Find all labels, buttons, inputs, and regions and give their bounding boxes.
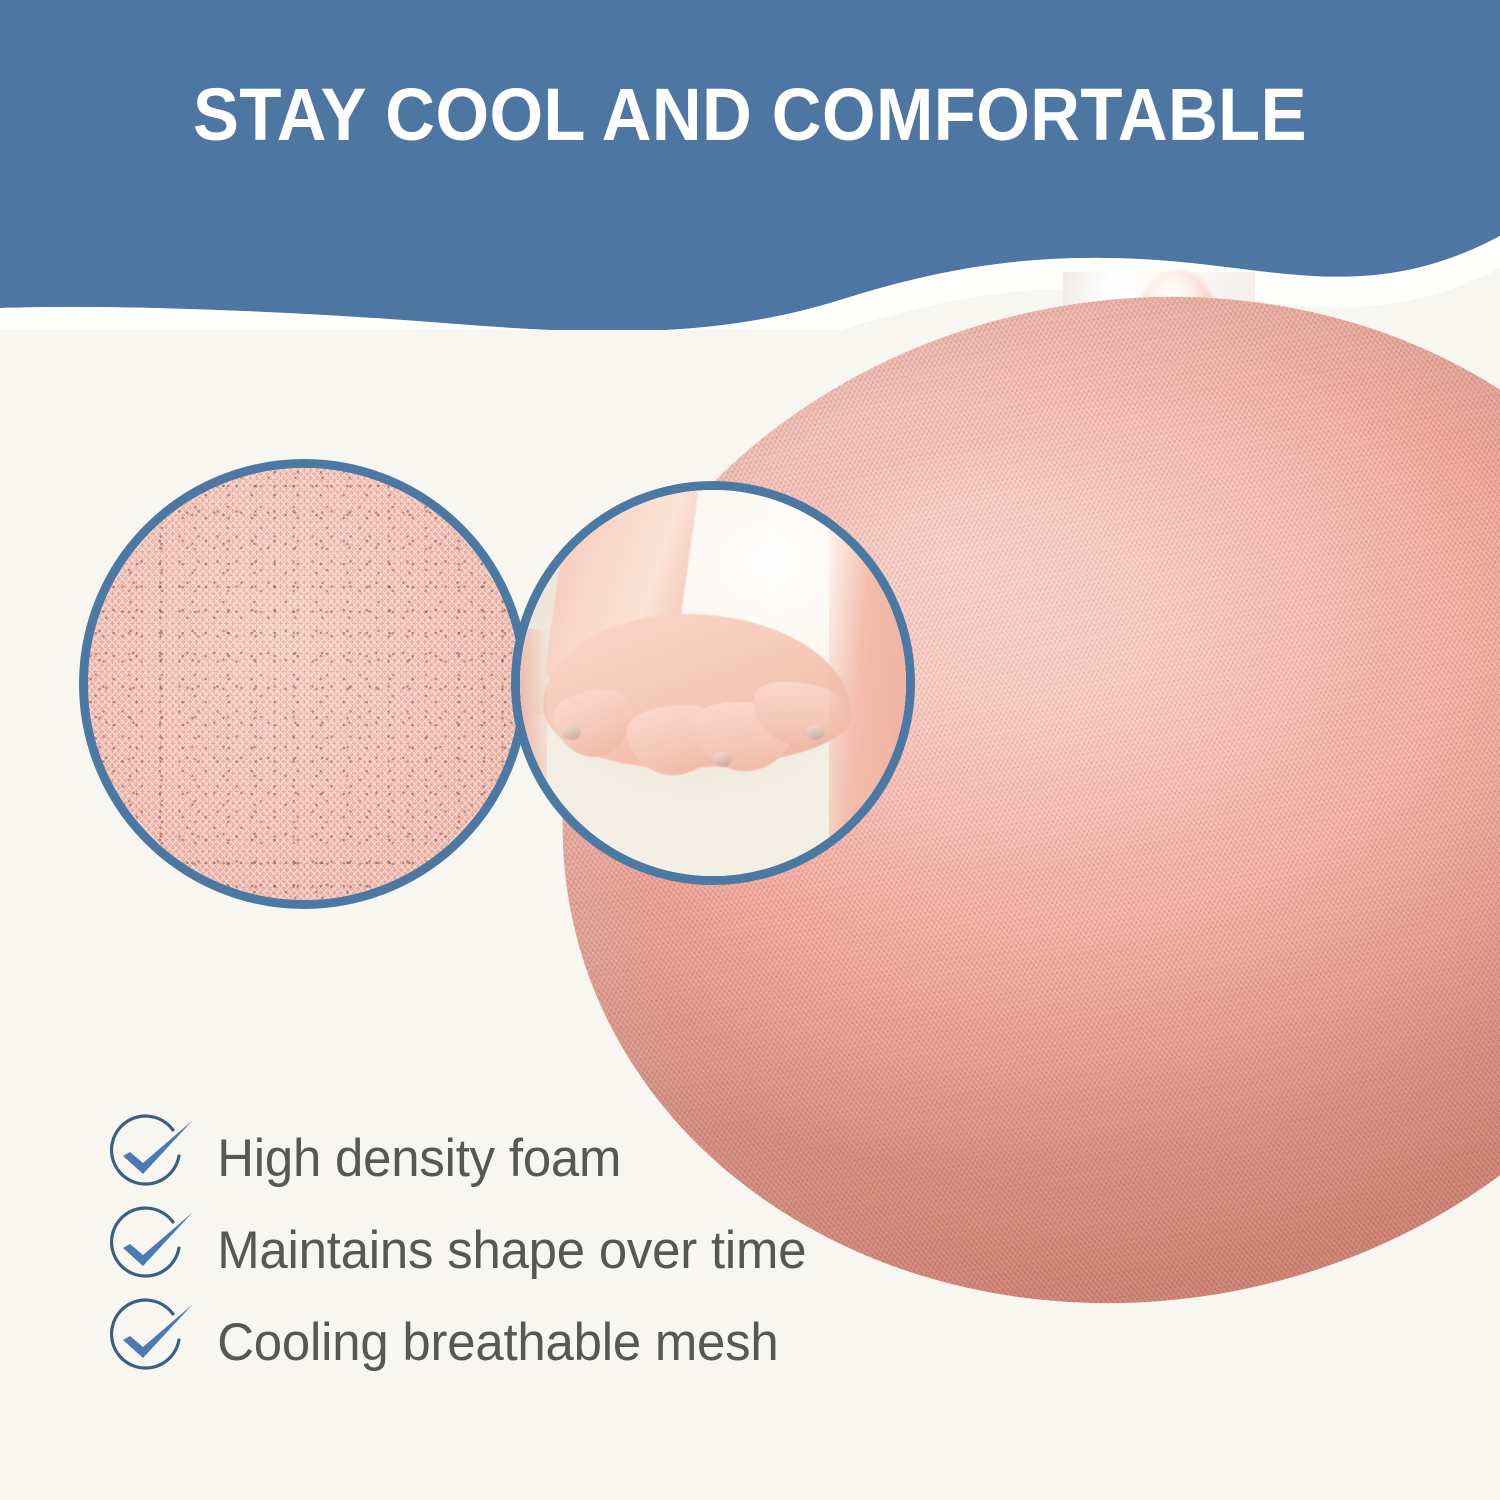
- check-circle-icon: [103, 1204, 199, 1296]
- cushion-edge-in-inset: [829, 481, 914, 885]
- feature-label: Cooling breathable mesh: [199, 1312, 779, 1373]
- feature-label: High density foam: [199, 1128, 621, 1189]
- feature-list: High density foam Maintains shape over t…: [103, 1112, 1043, 1388]
- inset-fabric-closeup: [79, 459, 529, 909]
- check-circle-icon: [103, 1112, 199, 1204]
- check-circle-icon: [103, 1296, 199, 1388]
- feature-item: High density foam: [103, 1112, 1043, 1204]
- fabric-speckle-texture: [88, 468, 520, 900]
- feature-item: Cooling breathable mesh: [103, 1296, 1043, 1388]
- feature-item: Maintains shape over time: [103, 1204, 1043, 1296]
- page-title: STAY COOL AND COMFORTABLE: [53, 78, 1448, 152]
- product-feature-image: STAY COOL AND COMFORTABLE: [0, 0, 1500, 1500]
- chair-knob-icon: [1140, 270, 1214, 354]
- header-banner: STAY COOL AND COMFORTABLE: [0, 0, 1500, 330]
- inset-foam-closeup: [511, 481, 915, 885]
- feature-label: Maintains shape over time: [199, 1220, 806, 1281]
